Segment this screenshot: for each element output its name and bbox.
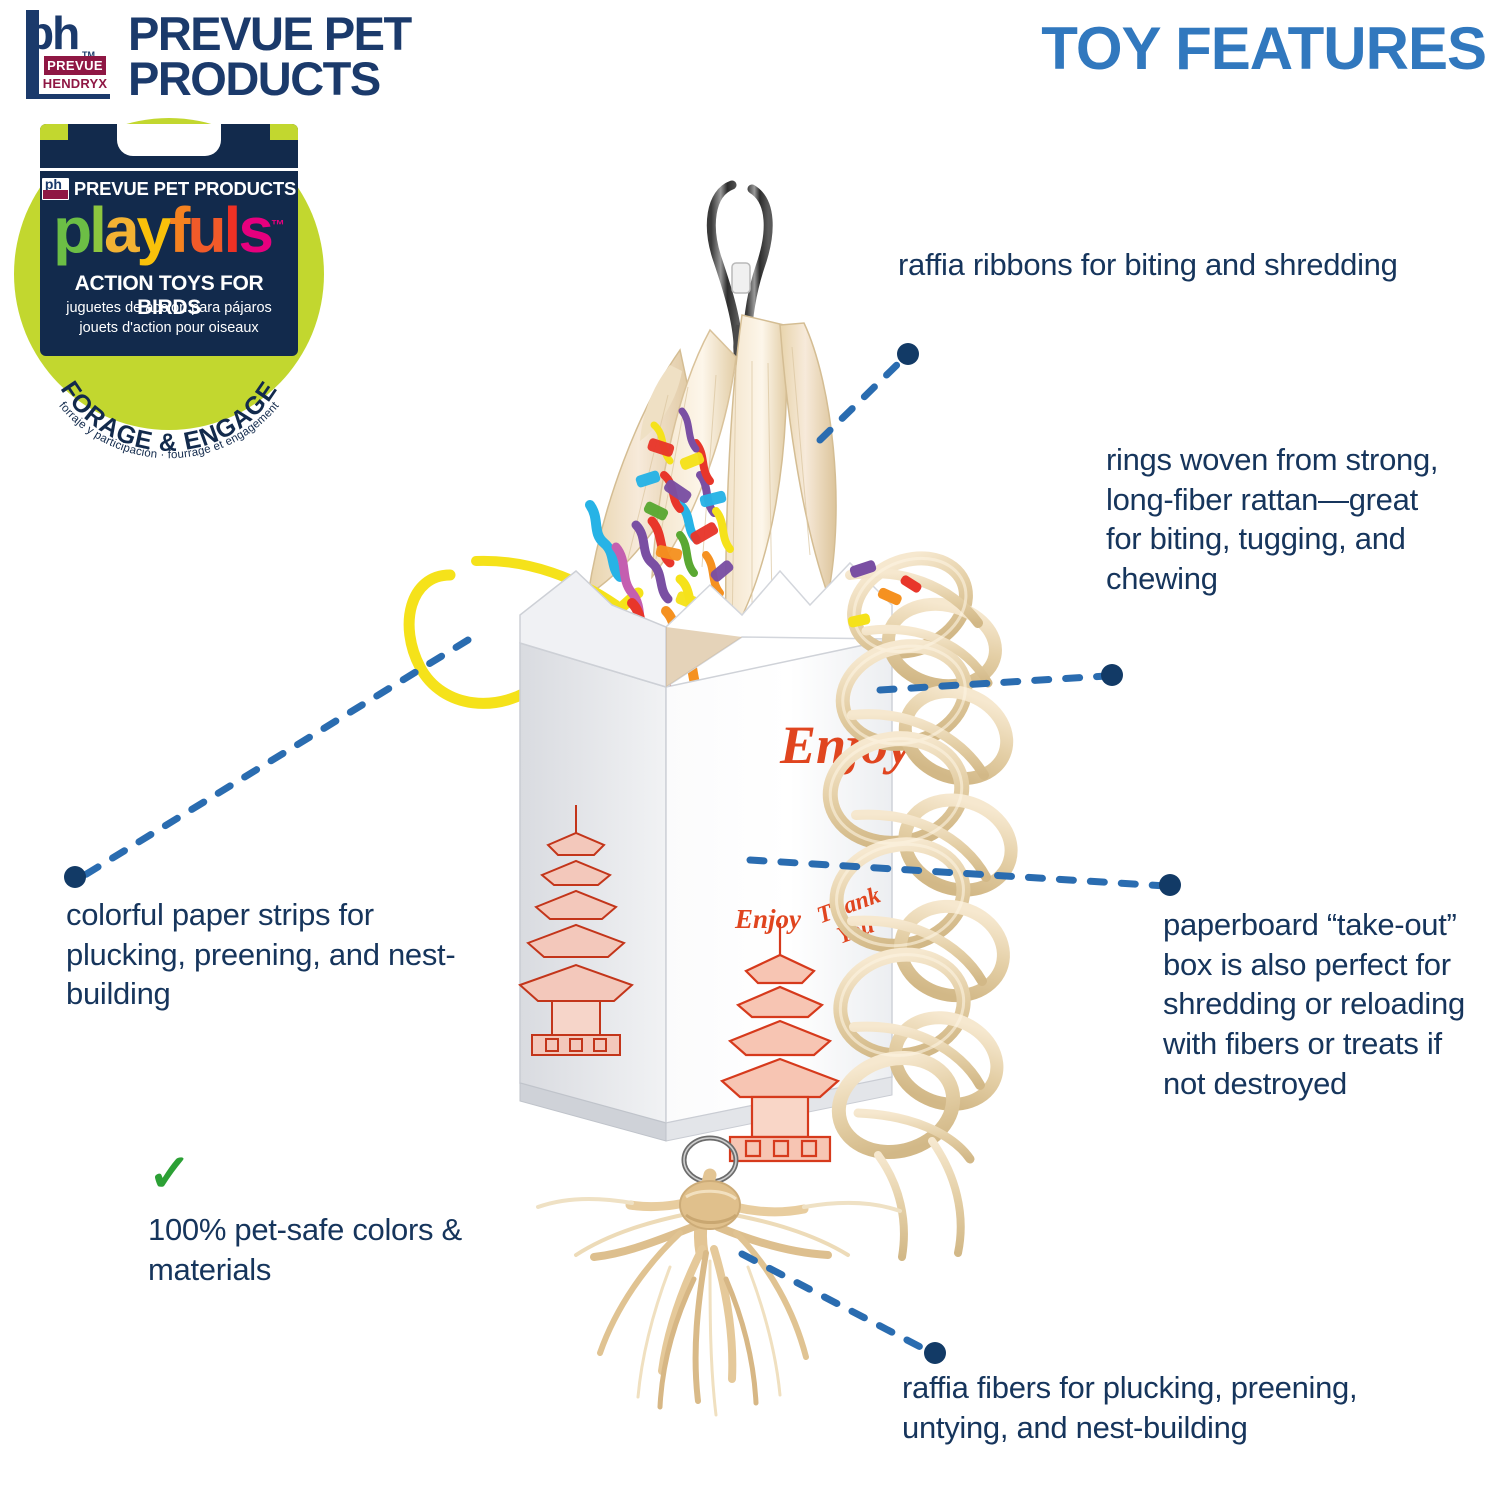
leader-dot-rings [1101,664,1123,686]
badge-panel: ph PREVUE PET PRODUCTS playfuls™ ACTION … [40,124,298,356]
product-photo: Enjoy Enjoy Thank You [380,175,1040,1505]
prevue-hendryx-logo-icon: ph TM PREVUE HENDRYX [22,8,114,100]
badge-hang-hole-icon [117,124,221,156]
logo-ph-letters: ph [26,10,78,56]
pet-safe-block: ✓ 100% pet-safe colors & materials [148,1148,488,1289]
callout-paperboard: paperboard “take-out” box is also perfec… [1163,905,1473,1103]
badge-tagline-es: juguetes de acción para pájaros [40,299,298,319]
raffia-knot [680,1181,740,1229]
logo-hendryx-text: HENDRYX [40,76,110,91]
badge-tagline-translations: juguetes de acción para pájaros jouets d… [40,299,298,338]
svg-text:FORAGE & ENGAGE: FORAGE & ENGAGE [55,376,283,457]
badge-ph-letters: ph [45,178,62,190]
leader-dot-paper-strips [64,866,86,888]
callout-rings: rings woven from strong, long-fiber ratt… [1106,440,1456,599]
brand-wordmark-line2: PRODUCTS [128,57,411,102]
badge-arc-text: FORAGE & ENGAGE forraje y participación … [14,354,324,430]
badge-notch-right [270,124,298,140]
badge-notch-left [40,124,68,140]
playfuls-wordmark: playfuls™ [40,198,298,262]
badge-tagline-fr: jouets d'action pour oiseaux [40,319,298,339]
callout-paper-strips: colorful paper strips for plucking, pree… [66,895,496,1014]
logo-bottom-bar [26,94,110,99]
brand-wordmark-line1: PREVUE PET [128,12,411,57]
playfuls-badge: ph PREVUE PET PRODUCTS playfuls™ ACTION … [14,118,324,430]
leader-dot-paperboard [1159,874,1181,896]
brand-lockup: ph TM PREVUE HENDRYX PREVUE PET PRODUCTS [22,8,411,101]
box-print-enjoy-small: Enjoy [734,904,802,934]
callout-raffia-fibers: raffia fibers for plucking, preening, un… [902,1368,1362,1447]
badge-divider [40,168,298,171]
pet-safe-text: 100% pet-safe colors & materials [148,1210,488,1289]
checkmark-icon: ✓ [148,1148,488,1200]
infographic-page: ph TM PREVUE HENDRYX PREVUE PET PRODUCTS… [0,0,1490,1500]
callout-raffia-ribbons: raffia ribbons for biting and shredding [898,245,1418,285]
product-photo-illustration: Enjoy Enjoy Thank You [380,175,1040,1505]
page-title: TOY FEATURES [1041,14,1486,83]
brand-wordmark: PREVUE PET PRODUCTS [128,8,411,101]
logo-prevue-bar: PREVUE [44,56,106,75]
playfuls-tm: ™ [271,217,285,233]
